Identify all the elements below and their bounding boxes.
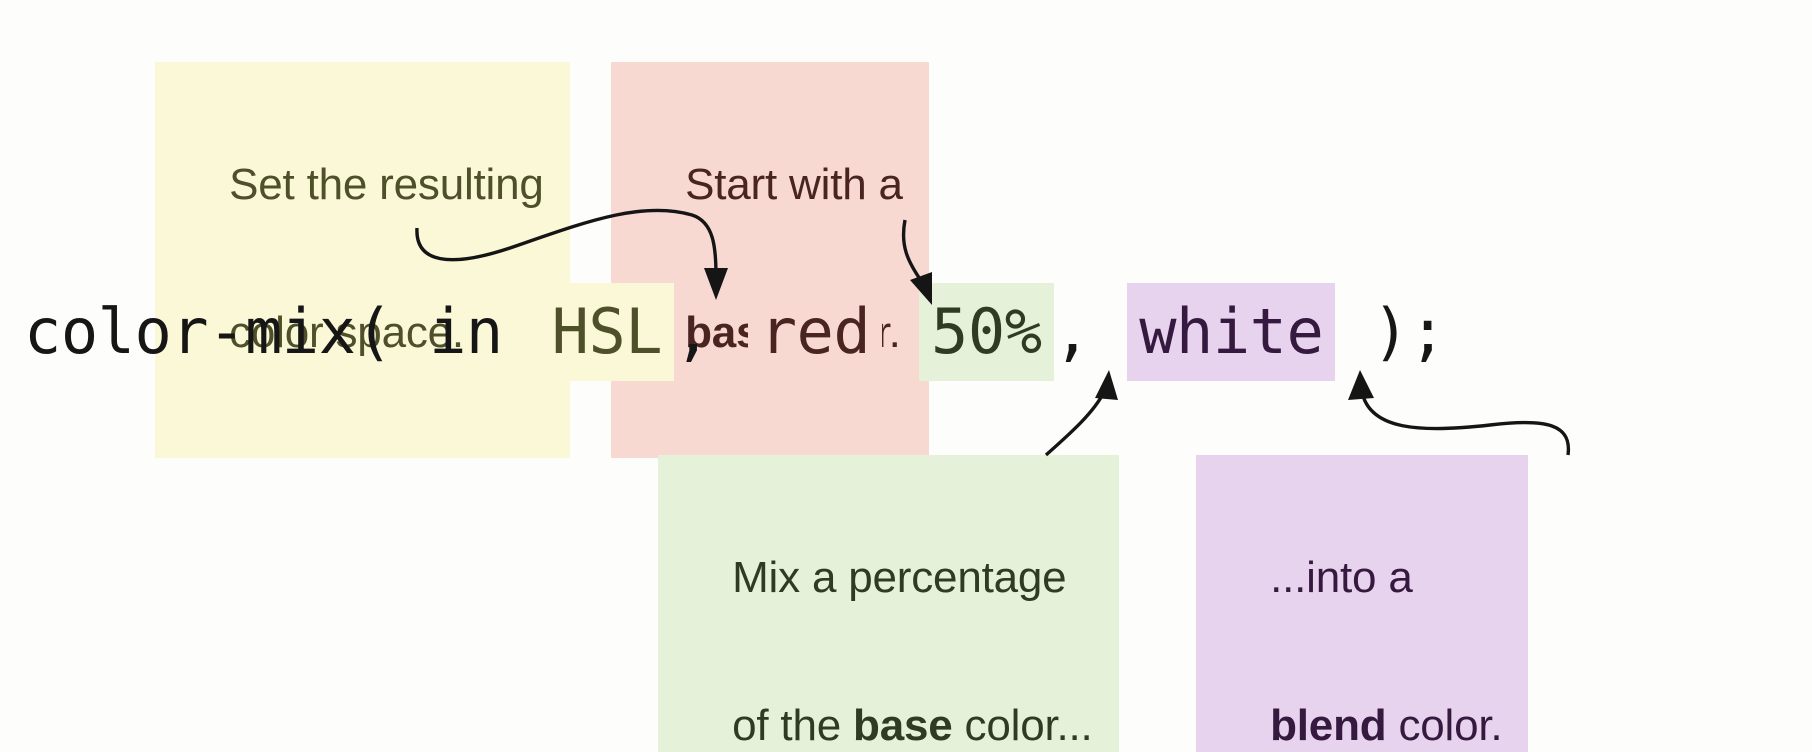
callout-blend-color: ...into a blend color. [1196, 455, 1528, 752]
code-expression: color-mix( in HSL, red 50%, white ); [24, 283, 1446, 381]
callout-mix-percentage-line2-rest: color... [953, 701, 1093, 750]
code-token-prefix: color-mix( in [24, 283, 540, 381]
code-token-comma-2: , [1054, 283, 1128, 381]
code-token-color-space: HSL [540, 283, 674, 381]
callout-blend-color-line2-rest: color. [1386, 701, 1502, 750]
callout-blend-color-line1: ...into a [1270, 553, 1413, 602]
callout-base-color-line1: Start with a [685, 160, 903, 209]
code-token-percentage: 50% [919, 283, 1053, 381]
code-token-base-color: red [748, 283, 882, 381]
code-token-blend-color: white [1127, 283, 1335, 381]
callout-mix-percentage-line2-pre: of the [732, 701, 853, 750]
callout-base-color: Start with a base color. [611, 62, 929, 458]
code-token-comma-1: , [674, 283, 748, 381]
callout-mix-percentage: Mix a percentage of the base color... [658, 455, 1119, 752]
code-token-space-1 [882, 283, 919, 381]
callout-color-space-line1: Set the resulting [229, 160, 544, 209]
arrow-blend-color-to-white [1348, 370, 1568, 455]
arrow-mix-percentage-to-50 [1046, 370, 1118, 455]
callout-blend-color-strong: blend [1270, 701, 1386, 750]
code-token-suffix: ); [1335, 283, 1445, 381]
callout-mix-percentage-line1: Mix a percentage [732, 553, 1066, 602]
illustration-canvas: Set the resulting color space. Start wit… [0, 0, 1812, 752]
callout-color-space: Set the resulting color space. [155, 62, 570, 458]
callout-mix-percentage-strong: base [853, 701, 953, 750]
